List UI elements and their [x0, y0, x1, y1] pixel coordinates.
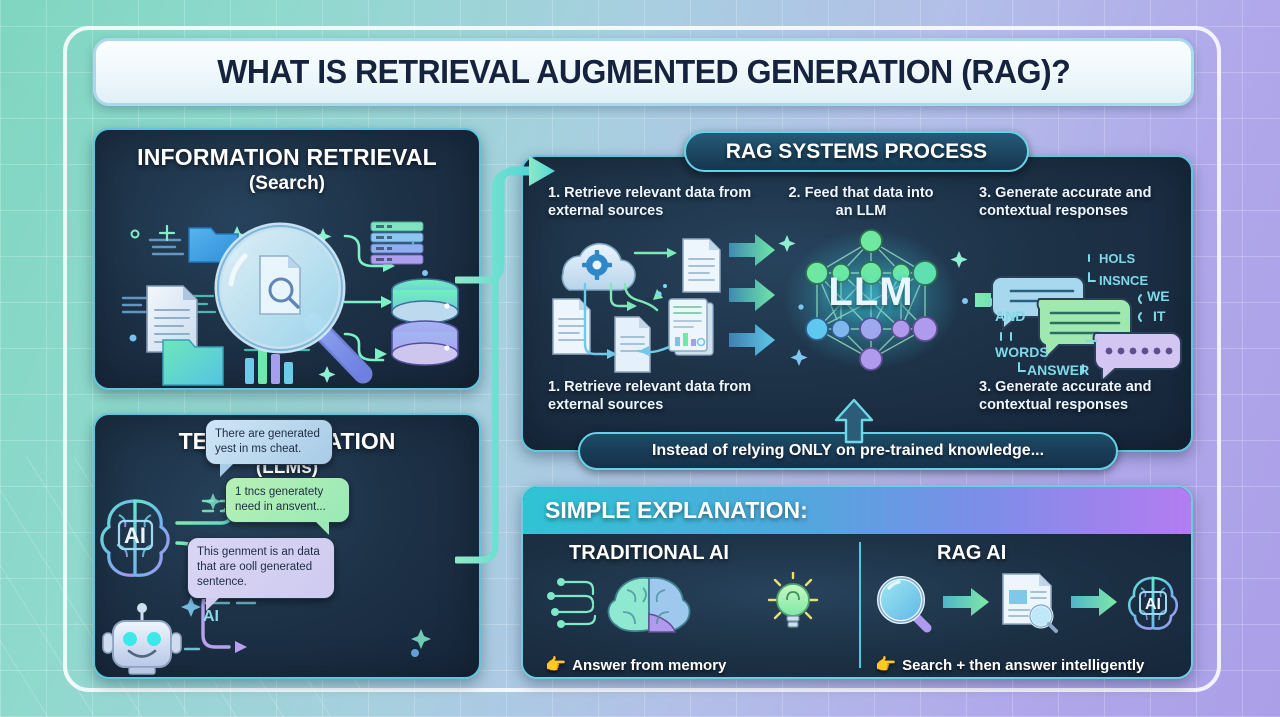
- llm-label: LLM: [811, 270, 931, 315]
- simple-explanation-header: SIMPLE EXPLANATION:: [523, 487, 1191, 534]
- generated-bubble-3: This genment is an data that are ooll ge…: [187, 537, 335, 599]
- generated-bubble-2: 1 tncs generatety need in ansvent...: [225, 477, 350, 523]
- rag-step-3-heading: 3. Generate accurate and contextual resp…: [979, 185, 1179, 220]
- info-retrieval-artwork: [95, 198, 481, 390]
- info-retrieval-subtitle: (Search): [95, 173, 479, 195]
- column-divider: [859, 542, 861, 668]
- rag-ai-footer-label: Search + then answer intelligently: [902, 657, 1144, 674]
- traditional-ai-artwork: [533, 572, 855, 634]
- svg-text:IT: IT: [1153, 308, 1166, 324]
- svg-text:INSNCE: INSNCE: [1099, 273, 1148, 288]
- traditional-ai-footer: 👉 Answer from memory: [545, 655, 726, 675]
- page-title-bar: WHAT IS RETRIEVAL AUGMENTED GENERATION (…: [93, 38, 1194, 106]
- svg-text:WE: WE: [1147, 288, 1170, 304]
- svg-text:AI: AI: [124, 523, 146, 548]
- panel-information-retrieval: INFORMATION RETRIEVAL (Search): [93, 128, 481, 390]
- info-retrieval-title: INFORMATION RETRIEVAL: [95, 144, 479, 171]
- svg-text:WORDS: WORDS: [995, 344, 1049, 360]
- traditional-ai-title: TRADITIONAL AI: [569, 542, 729, 565]
- simple-explanation-title: SIMPLE EXPLANATION:: [545, 497, 808, 524]
- rag-badge-label: RAG SYSTEMS PROCESS: [726, 140, 987, 164]
- svg-text:HOLS: HOLS: [1099, 251, 1135, 266]
- rag-ai-footer: 👉 Search + then answer intelligently: [875, 655, 1144, 675]
- arrow-up-icon: [832, 398, 876, 444]
- traditional-ai-footer-label: Answer from memory: [572, 657, 726, 674]
- rag-ai-title: RAG AI: [937, 542, 1006, 565]
- rag-ai-artwork: AI: [871, 572, 1189, 634]
- svg-text:ANSWER: ANSWER: [1027, 362, 1089, 378]
- pointing-hand-icon: 👉: [545, 655, 566, 675]
- panel-simple-explanation: SIMPLE EXPLANATION: TRADITIONAL AI RAG A…: [521, 485, 1193, 679]
- rag-step-1-footer: 1. Retrieve relevant data from external …: [548, 379, 763, 414]
- rag-step-3-footer: 3. Generate accurate and contextual resp…: [979, 379, 1179, 414]
- rag-caption-label: Instead of relying ONLY on pre-trained k…: [652, 442, 1044, 460]
- generated-bubble-1: There are generated yest in ms cheat.: [205, 419, 333, 465]
- page-title: WHAT IS RETRIEVAL AUGMENTED GENERATION (…: [217, 53, 1070, 91]
- svg-text:AND: AND: [995, 308, 1025, 324]
- rag-step-2-heading: 2. Feed that data into an LLM: [781, 185, 941, 220]
- panel-text-generation: TEXT GENERATION (LLMs) AI: [93, 413, 481, 679]
- svg-text:AI: AI: [203, 608, 219, 625]
- simple-explanation-body: TRADITIONAL AI RAG AI: [523, 534, 1191, 679]
- pointing-hand-icon: 👉: [875, 655, 896, 675]
- rag-process-badge: RAG SYSTEMS PROCESS: [684, 131, 1029, 172]
- rag-step-1-heading: 1. Retrieve relevant data from external …: [548, 185, 763, 220]
- svg-text:AI: AI: [1145, 596, 1161, 613]
